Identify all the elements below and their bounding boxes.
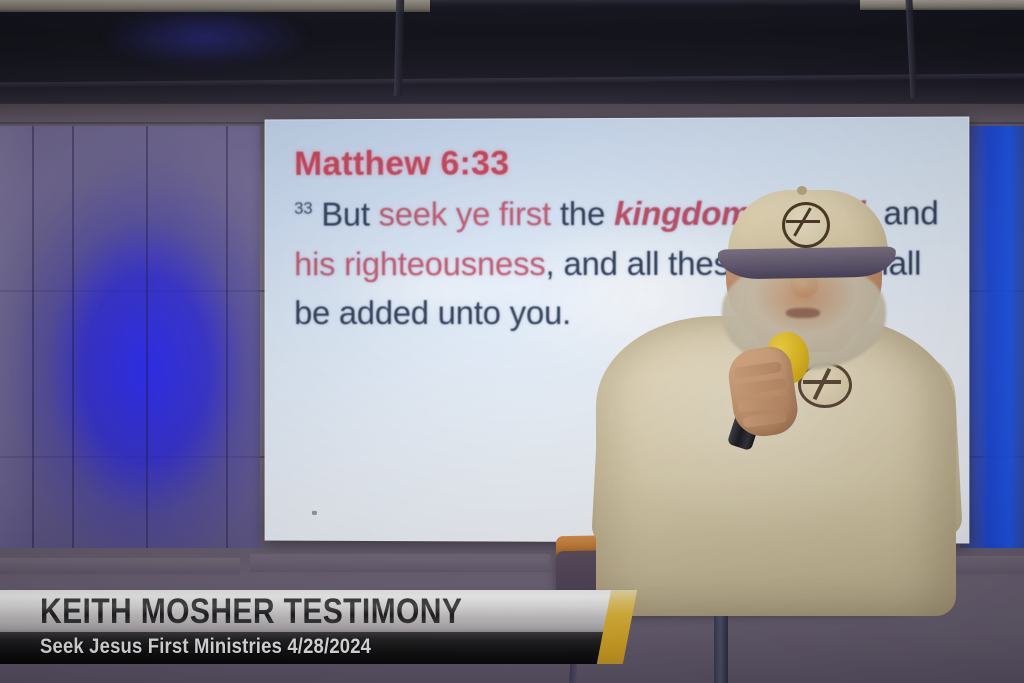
ceiling-panel-right bbox=[860, 0, 1024, 10]
verse-number: 33 bbox=[294, 199, 312, 218]
pew bbox=[250, 554, 550, 572]
cap-logo-icon bbox=[782, 202, 830, 248]
finger bbox=[734, 378, 787, 396]
video-frame: Matthew 6:33 33 But seek ye first the ki… bbox=[0, 0, 1024, 683]
cap-brim bbox=[718, 246, 896, 279]
screen-corner-mark bbox=[312, 511, 317, 515]
verse-segment-2: seek ye first bbox=[379, 195, 551, 232]
panel-slat bbox=[32, 126, 34, 592]
ceiling-beam-horizontal bbox=[0, 74, 1024, 88]
speaker-mouth bbox=[786, 308, 820, 318]
lower-third-banner: KEITH MOSHER TESTIMONY Seek Jesus First … bbox=[0, 590, 1024, 666]
lower-third-subtitle: Seek Jesus First Ministries 4/28/2024 bbox=[40, 632, 371, 662]
pew bbox=[0, 558, 240, 574]
ceiling-beam-right bbox=[905, 0, 917, 98]
finger bbox=[737, 395, 788, 413]
slide-scripture-reference: Matthew 6:33 bbox=[294, 143, 951, 184]
lower-third-title: KEITH MOSHER TESTIMONY bbox=[40, 591, 462, 632]
ceiling bbox=[0, 0, 1024, 108]
finger bbox=[733, 361, 782, 379]
cap-button bbox=[797, 186, 807, 195]
verse-segment-6: his righteousness bbox=[294, 245, 545, 282]
verse-segment-3: the bbox=[551, 195, 614, 232]
panel-slat bbox=[226, 126, 228, 592]
stage-light-panel-left bbox=[0, 126, 260, 592]
panel-slat bbox=[146, 126, 148, 592]
panel-sheen bbox=[0, 126, 34, 592]
stage-light-panel-right bbox=[960, 126, 1024, 566]
verse-segment-1: But bbox=[321, 196, 378, 233]
panel-slat bbox=[72, 126, 74, 592]
ceiling-blue-glow bbox=[100, 8, 310, 66]
finger bbox=[742, 411, 787, 428]
